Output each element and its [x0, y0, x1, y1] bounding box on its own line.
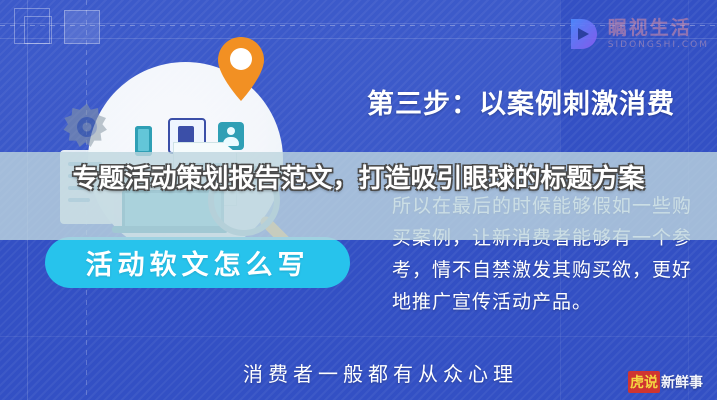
brand-logo: 瞩视生活 SIDONGSHI.COM	[565, 16, 709, 52]
blueprint-square-filled	[64, 10, 100, 44]
step-title: 第三步：以案例刺激消费	[367, 82, 687, 121]
bottom-caption: 消费者一般都有从众心理	[243, 358, 518, 387]
guide-line-horizontal	[0, 336, 717, 337]
gear-icon	[58, 98, 116, 156]
watermark-red-part: 虎说	[628, 371, 660, 393]
brand-name: 瞩视生活	[608, 19, 709, 38]
blueprint-square	[24, 16, 52, 44]
topic-pill-badge: 活动软文怎么写	[45, 237, 350, 288]
page-title: 专题活动策划报告范文，打造吸引眼球的标题方案	[0, 160, 717, 198]
topic-pill-label: 活动软文怎么写	[86, 243, 310, 282]
d-play-logo-icon	[565, 16, 601, 52]
thumbnail-canvas: 第三步：以案例刺激消费 所以在最后的时候能够假如一些购买案例，让新消费者能够有一…	[0, 0, 717, 400]
brand-text: 瞩视生活 SIDONGSHI.COM	[608, 19, 709, 50]
brand-domain: SIDONGSHI.COM	[608, 41, 709, 50]
map-pin-icon	[216, 35, 266, 103]
watermark: 虎说 新鲜事	[628, 371, 703, 393]
watermark-white-part: 新鲜事	[661, 372, 703, 392]
